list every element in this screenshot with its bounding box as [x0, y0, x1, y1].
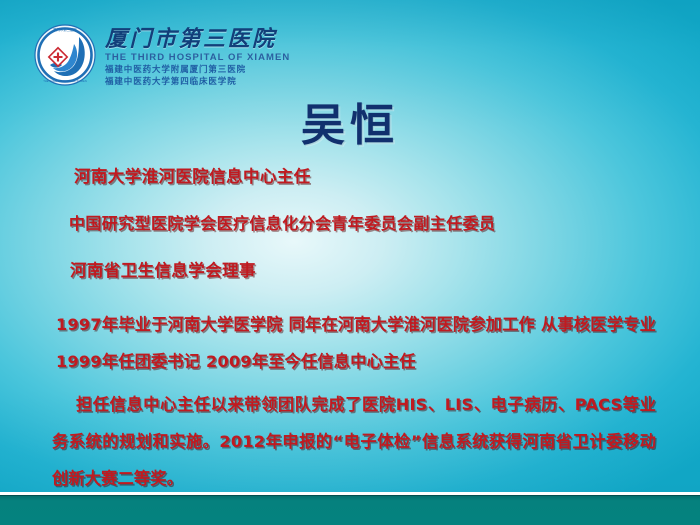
hospital-name-english: THE THIRD HOSPITAL OF XIAMEN [105, 52, 290, 64]
hospital-logo-text: 厦门市第三医院 THE THIRD HOSPITAL OF XIAMEN 福建中… [105, 24, 290, 87]
speaker-title-3: 河南省卫生信息学会理事 [70, 260, 656, 281]
svg-text:厦门市第三医院: 厦门市第三医院 [53, 27, 77, 32]
hospital-affiliation-line-1: 福建中医药大学附属厦门第三医院 [105, 65, 290, 76]
hospital-logo-lockup: 厦门市第三医院 THE THIRD HOSPITAL OF XIAMEN 厦门市… [34, 24, 290, 87]
hospital-name-chinese: 厦门市第三医院 [105, 27, 290, 51]
speaker-title-1: 河南大学淮河医院信息中心主任 [74, 166, 656, 187]
footer-bar [0, 495, 700, 525]
hospital-affiliation-line-2: 福建中医药大学第四临床医学院 [105, 77, 290, 88]
presentation-slide: 厦门市第三医院 THE THIRD HOSPITAL OF XIAMEN 厦门市… [0, 0, 700, 525]
speaker-bio-paragraph-2: 担任信息中心主任以来带领团队完成了医院HIS、LIS、电子病历、PACS等业务系… [52, 386, 656, 497]
speaker-title-2: 中国研究型医院学会医疗信息化分会青年委员会副主任委员 [69, 213, 656, 234]
speaker-bio-paragraph-1: 1997年毕业于河南大学医学院 同年在河南大学淮河医院参加工作 从事核医学专业 … [56, 306, 656, 380]
hospital-emblem-icon: 厦门市第三医院 THE THIRD HOSPITAL OF XIAMEN [34, 24, 96, 86]
svg-text:THE THIRD HOSPITAL OF XIAMEN: THE THIRD HOSPITAL OF XIAMEN [43, 79, 87, 83]
speaker-name: 吴恒 [0, 101, 700, 151]
speaker-bio-block: 河南大学淮河医院信息中心主任 中国研究型医院学会医疗信息化分会青年委员会副主任委… [52, 166, 656, 497]
